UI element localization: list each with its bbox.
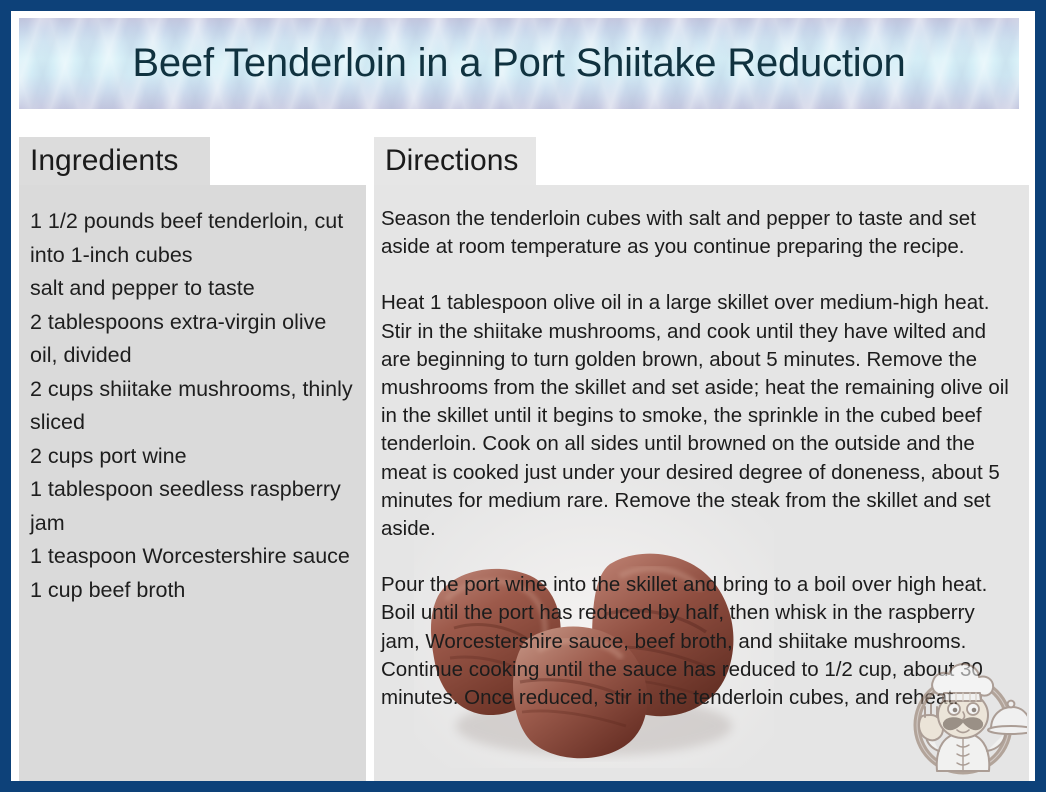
list-item: 1 cup beef broth <box>30 574 356 608</box>
directions-text: Season the tenderloin cubes with salt an… <box>381 205 1017 712</box>
tab-directions[interactable]: Directions <box>374 137 536 185</box>
chef-mascot-logo <box>899 659 1027 781</box>
ingredients-panel: 1 1/2 pounds beef tenderloin, cut into 1… <box>19 185 366 781</box>
list-item: 1 tablespoon seedless raspberry jam <box>30 473 356 540</box>
tab-ingredients[interactable]: Ingredients <box>19 137 210 185</box>
title-banner: Beef Tenderloin in a Port Shiitake Reduc… <box>19 18 1019 109</box>
direction-paragraph: Season the tenderloin cubes with salt an… <box>381 205 1017 261</box>
page-title: Beef Tenderloin in a Port Shiitake Reduc… <box>19 41 1019 85</box>
list-item: 2 cups port wine <box>30 440 356 474</box>
list-item: 1 teaspoon Worcestershire sauce <box>30 540 356 574</box>
list-item: 2 tablespoons extra-virgin olive oil, di… <box>30 306 356 373</box>
list-item: salt and pepper to taste <box>30 272 356 306</box>
recipe-card: Beef Tenderloin in a Port Shiitake Reduc… <box>0 0 1046 792</box>
list-item: 1 1/2 pounds beef tenderloin, cut into 1… <box>30 205 356 272</box>
direction-paragraph: Heat 1 tablespoon olive oil in a large s… <box>381 289 1017 543</box>
recipe-canvas: Beef Tenderloin in a Port Shiitake Reduc… <box>11 11 1035 781</box>
ingredients-list: 1 1/2 pounds beef tenderloin, cut into 1… <box>30 205 356 607</box>
list-item: 2 cups shiitake mushrooms, thinly sliced <box>30 373 356 440</box>
